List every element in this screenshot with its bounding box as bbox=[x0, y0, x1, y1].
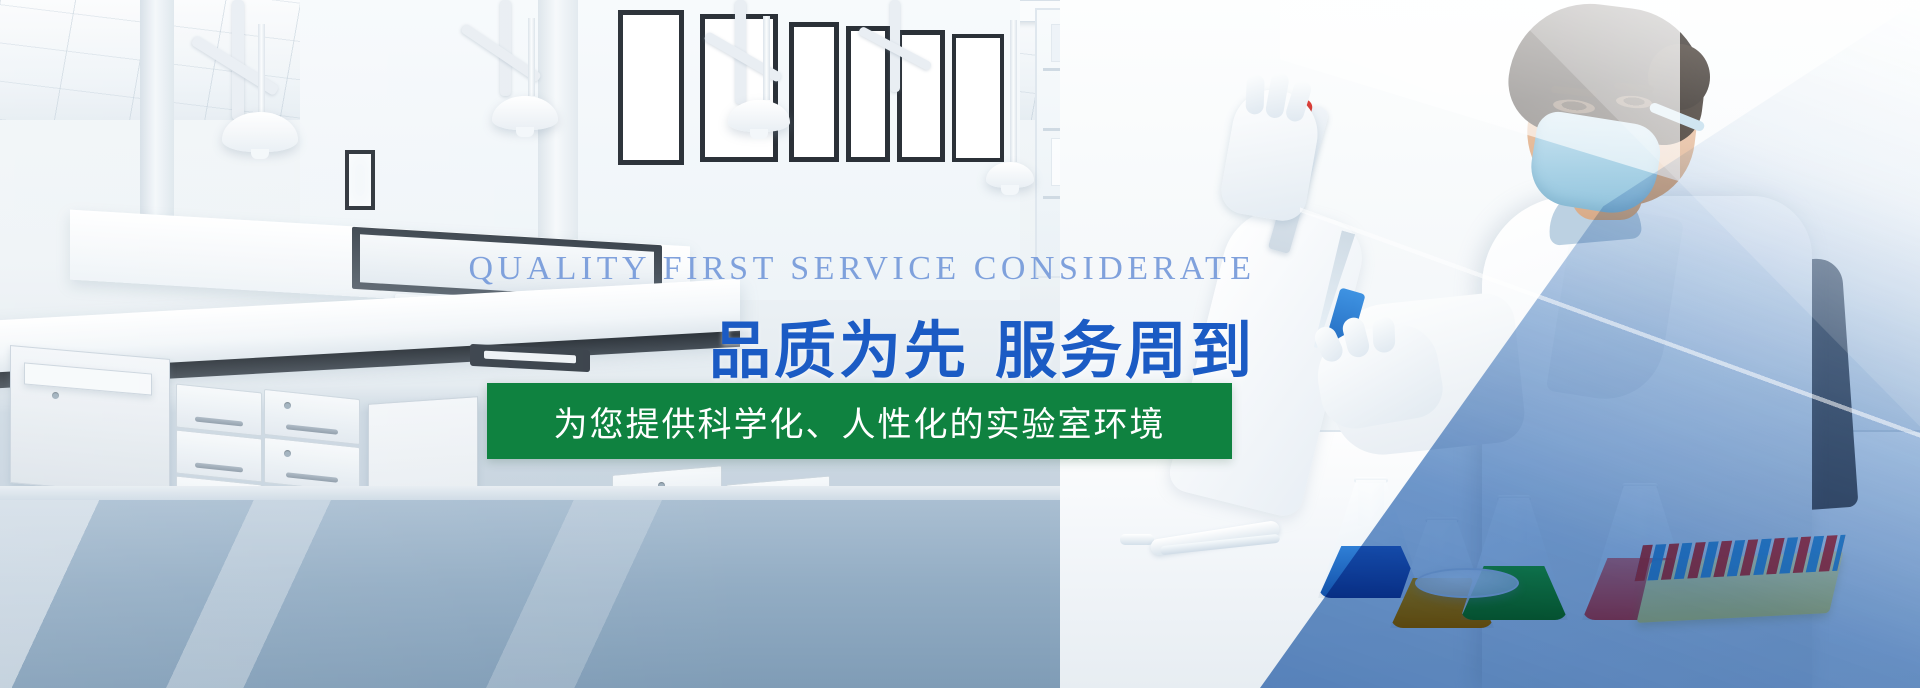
left-haze-overlay bbox=[0, 0, 760, 688]
lamp-stalk bbox=[763, 16, 770, 100]
window-pane bbox=[789, 22, 839, 162]
promo-banner: QUALITY FIRST SERVICE CONSIDERATE 品质为先服务… bbox=[0, 0, 1920, 688]
specimen-slide bbox=[1120, 534, 1154, 545]
diagonal-highlight-line bbox=[1300, 0, 1920, 688]
window-pane bbox=[952, 34, 1004, 162]
lamp-stalk bbox=[1010, 20, 1017, 162]
